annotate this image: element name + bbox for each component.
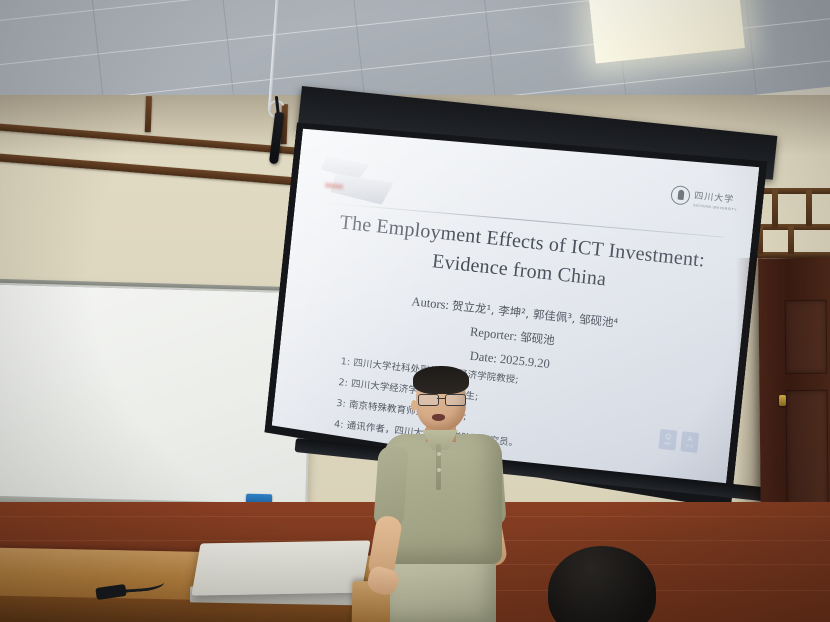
wall-trim-post	[145, 96, 152, 132]
presenter-hair	[413, 366, 469, 394]
lattice-trim-v	[788, 226, 794, 254]
overlay-icon: A XYZ	[680, 431, 699, 453]
reporter-label: Reporter:	[469, 324, 517, 343]
reporter-name: 邹砚池	[520, 330, 556, 348]
lecture-room-photo: 四川大学 SICHUAN UNIVERSITY The Employment E…	[0, 0, 830, 622]
authors-label: Autors:	[411, 294, 450, 312]
overlay-icon-glyph: Q	[665, 434, 671, 442]
slide-decoration-shape	[330, 173, 394, 205]
date-label: Date:	[469, 348, 497, 365]
shirt-button	[437, 452, 441, 456]
lattice-trim-v	[806, 190, 812, 226]
university-seal-icon	[670, 184, 691, 205]
glasses-icon	[418, 394, 464, 404]
presenter-mouth	[432, 414, 445, 421]
slide-decoration-accent	[325, 183, 343, 190]
shirt-button	[437, 468, 441, 472]
whiteboard[interactable]	[0, 283, 313, 518]
overlay-icon-glyph: A	[687, 436, 692, 443]
presenter-shirt-placket	[436, 444, 441, 490]
presenter	[370, 368, 520, 622]
door-lock-icon[interactable]	[779, 395, 786, 406]
presenter-ear	[411, 400, 417, 411]
presenter-laptop[interactable]	[191, 540, 370, 595]
door-panel	[785, 300, 828, 374]
presenter-trousers	[390, 556, 496, 622]
overlay-icon-caption: XYZ	[686, 444, 693, 449]
overlay-icon: Q ABC	[658, 429, 677, 451]
slide-overlay-icons: Q ABC A XYZ	[658, 429, 699, 453]
overlay-icon-caption: ABC	[664, 441, 672, 446]
sichuan-university-logo: 四川大学 SICHUAN UNIVERSITY	[670, 183, 739, 212]
